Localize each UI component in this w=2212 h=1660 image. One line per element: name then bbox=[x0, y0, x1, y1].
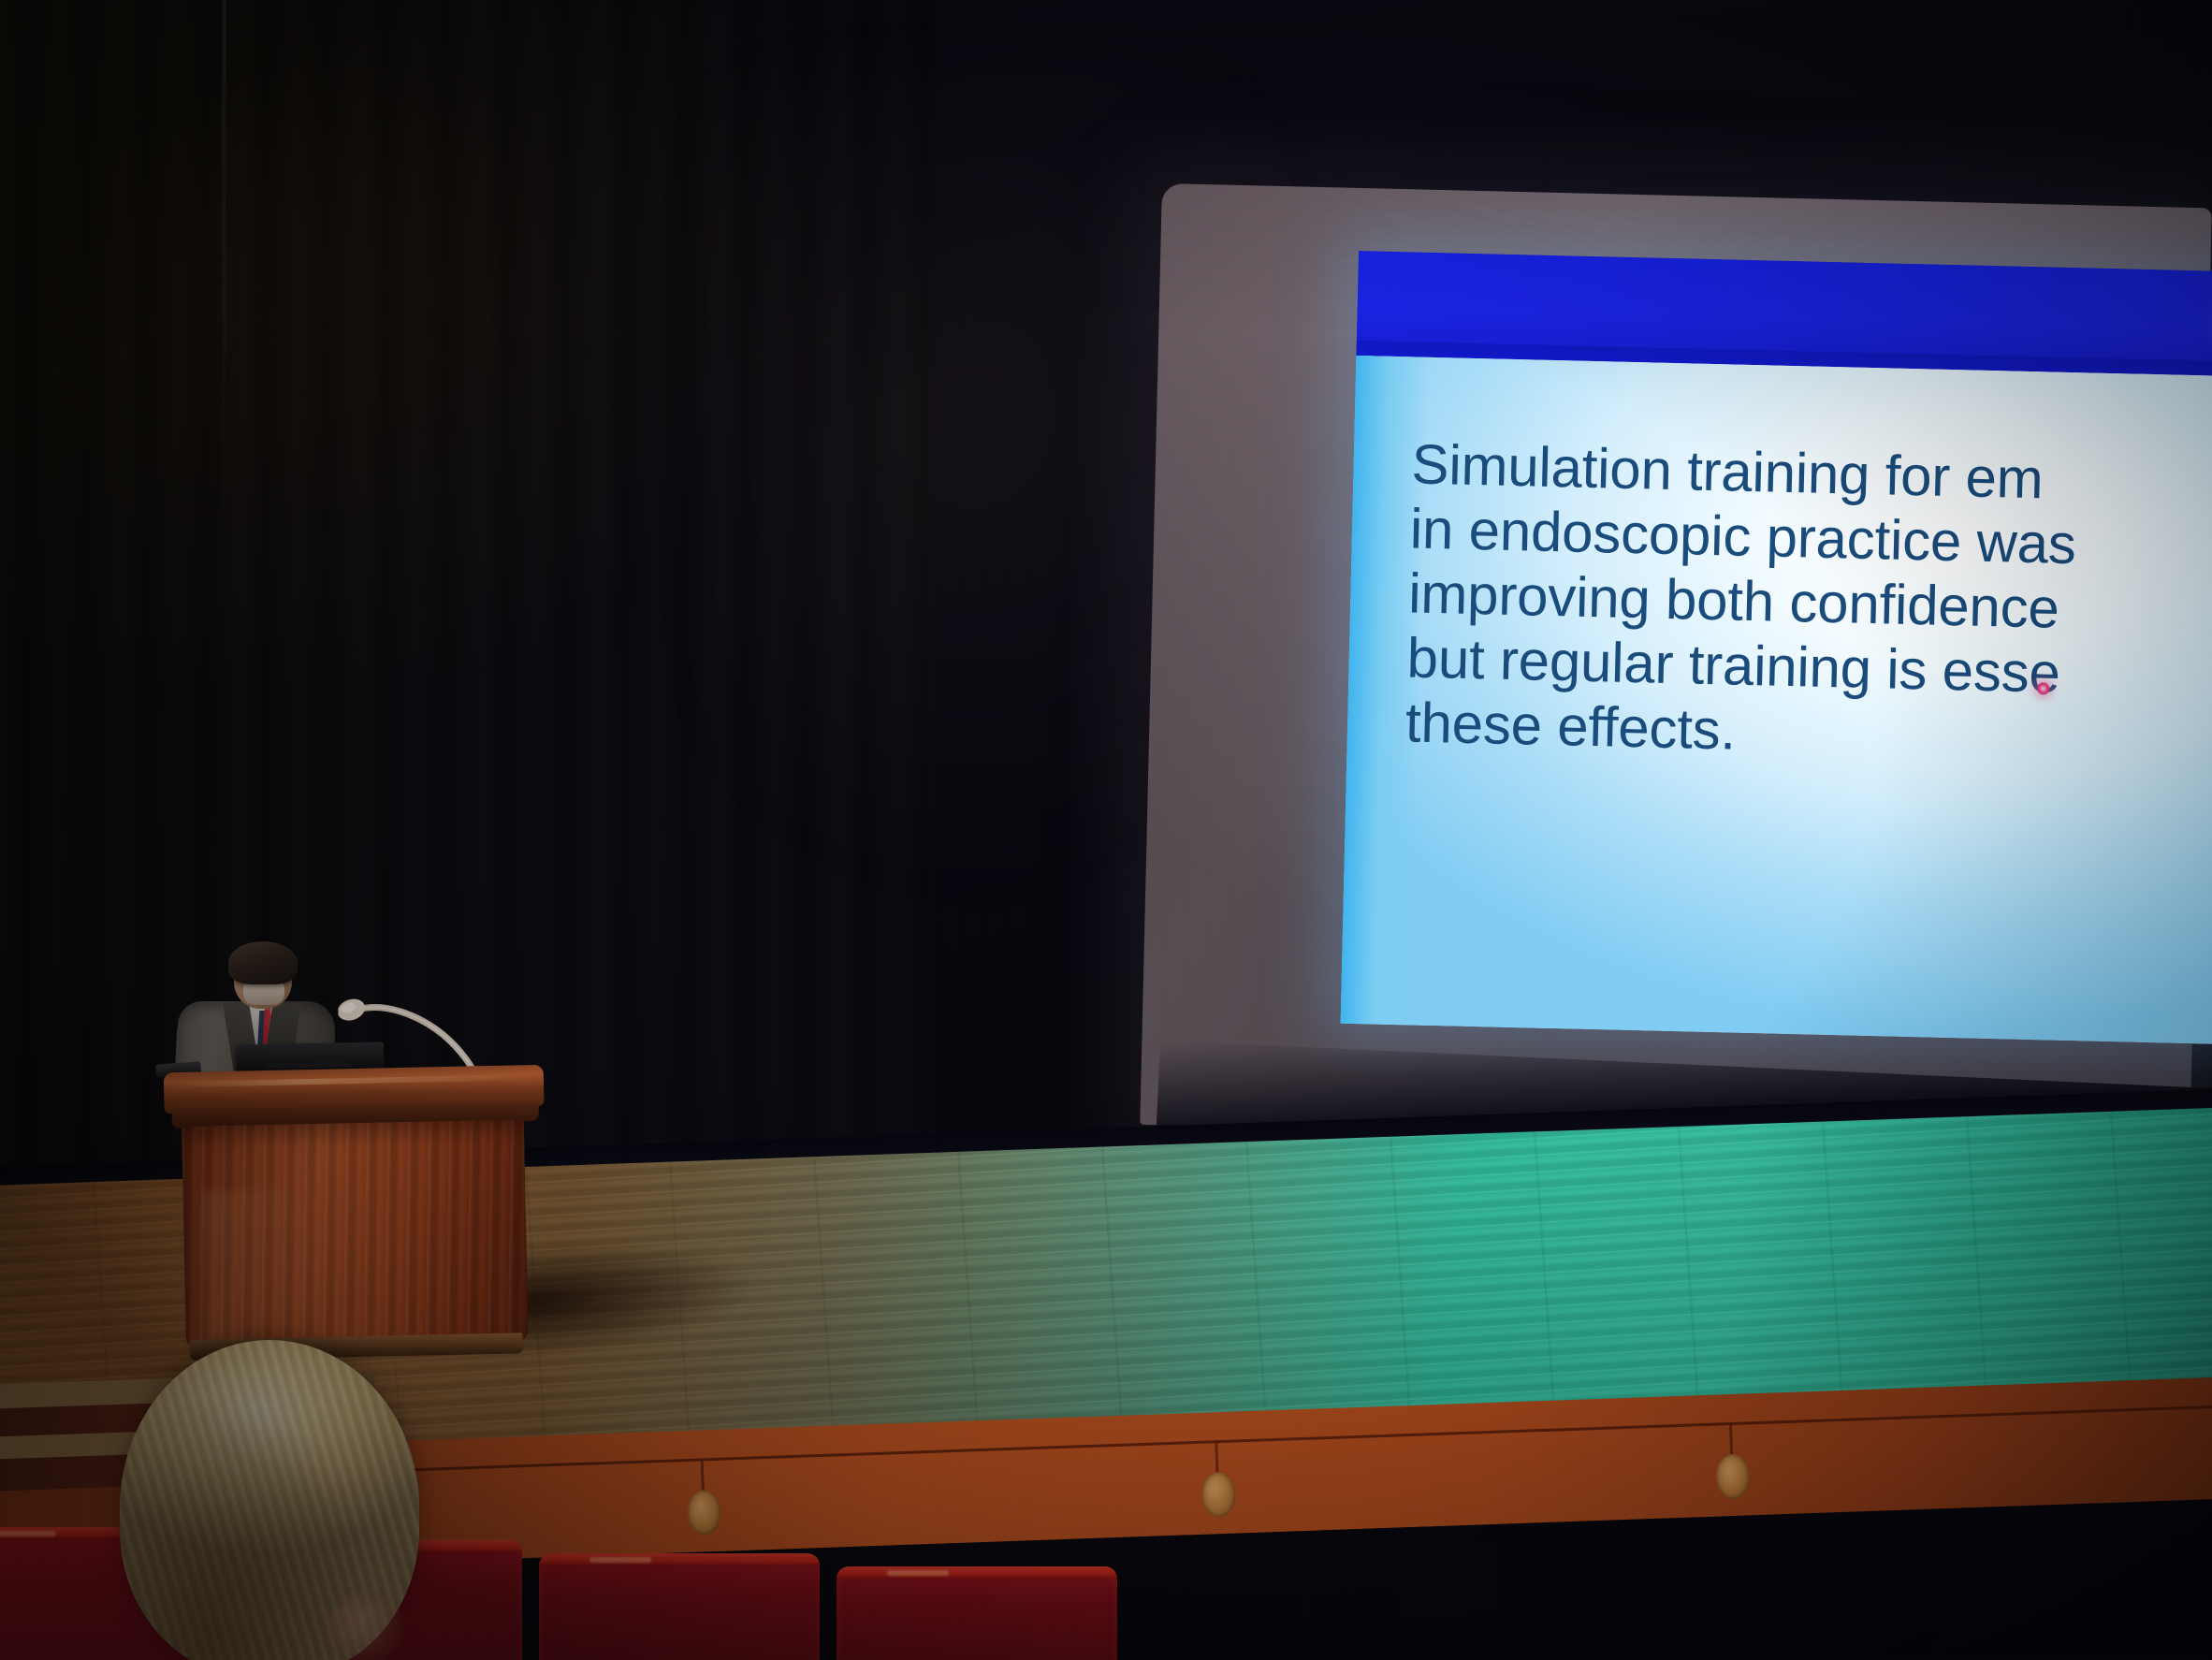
audience-member-ear bbox=[329, 1591, 404, 1660]
curtain-seam bbox=[223, 0, 226, 618]
fascia-bolt bbox=[1715, 1453, 1751, 1499]
wooden-lectern bbox=[181, 1065, 535, 1368]
slide-body: Simulation training for em in endoscopic… bbox=[1341, 356, 2212, 1044]
presentation-photo-scene: Conclusi Simulation training for em in e… bbox=[0, 0, 2212, 1660]
theater-seat bbox=[837, 1566, 1117, 1660]
theater-seat bbox=[539, 1553, 820, 1660]
projected-slide: Conclusi Simulation training for em in e… bbox=[1341, 251, 2212, 1044]
presenter-hair bbox=[228, 941, 298, 984]
lectern-body bbox=[182, 1119, 529, 1347]
slide-body-text: Simulation training for em in endoscopic… bbox=[1404, 431, 2212, 774]
